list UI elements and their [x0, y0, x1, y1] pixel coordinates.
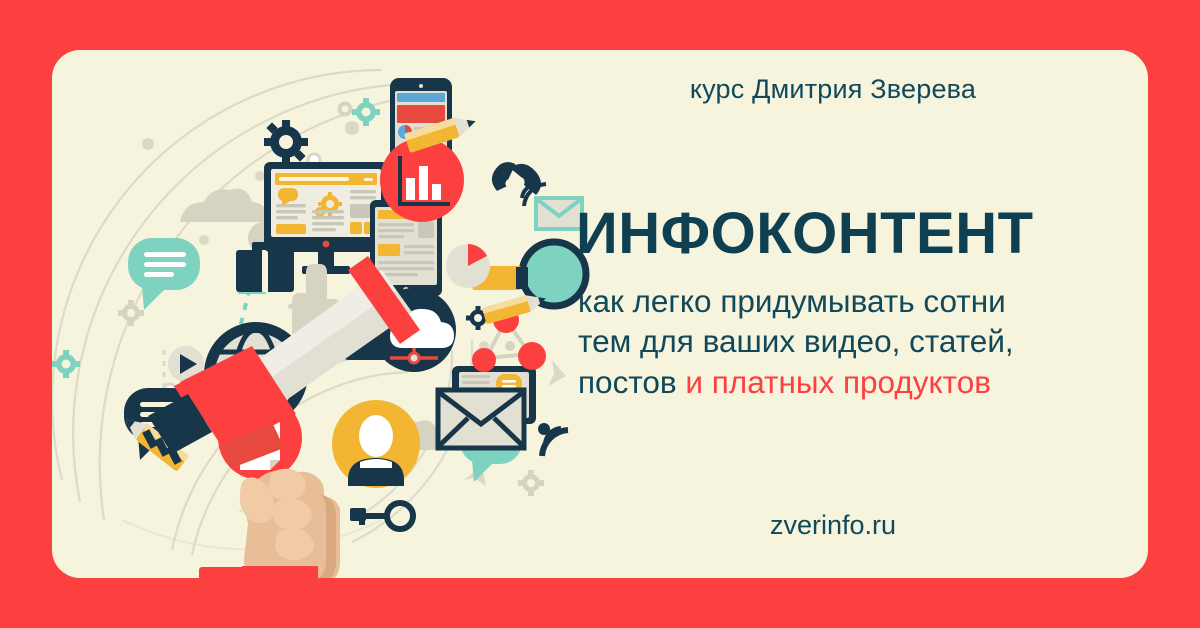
subtitle-block: как легко придумывать сотни тем для ваши…	[578, 281, 1094, 402]
course-author-label: курс Дмитрия Зверева	[578, 74, 1088, 105]
subtitle-line-3-plain: постов	[578, 364, 685, 400]
subtitle-line-1: как легко придумывать сотни	[578, 281, 1094, 321]
subtitle-line-3: постов и платных продуктов	[578, 362, 1094, 402]
page-title: ИНФОКОНТЕНТ	[576, 205, 1034, 263]
illustration	[52, 50, 612, 578]
subtitle-line-2: тем для ваших видео, статей,	[578, 321, 1094, 361]
subtitle-line-3-accent: и платных продуктов	[685, 364, 991, 400]
website-url: zverinfo.ru	[578, 510, 1088, 541]
text-column: курс Дмитрия Зверева ИНФОКОНТЕНТ как лег…	[578, 60, 1098, 570]
poster-canvas: курс Дмитрия Зверева ИНФОКОНТЕНТ как лег…	[0, 0, 1200, 628]
